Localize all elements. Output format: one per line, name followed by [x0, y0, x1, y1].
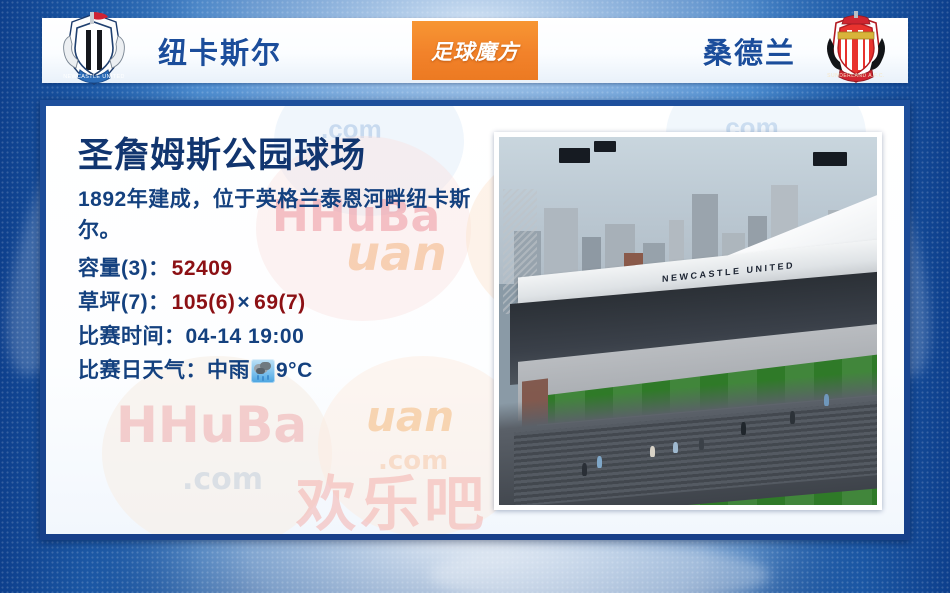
weather-label: 比赛日天气： [78, 354, 207, 388]
pitch-width-value: 69(7) [254, 286, 306, 320]
match-header-bar: NEWCASTLE UNITED 纽卡斯尔 足球魔方 桑德兰 [42, 18, 908, 83]
svg-text:SUNDERLAND A.F.C.: SUNDERLAND A.F.C. [827, 73, 885, 79]
newcastle-united-crest: NEWCASTLE UNITED [56, 10, 132, 88]
capacity-value: 52409 [172, 252, 233, 286]
watermark-brand: HHuBa [116, 396, 307, 454]
home-team-name: 纽卡斯尔 [158, 30, 282, 72]
watermark-pinyin: uan [366, 392, 454, 441]
watermark-domain: .com [182, 462, 263, 497]
capacity-label: 容量(3)： [78, 252, 170, 286]
pitch-length-value: 105(6) [172, 286, 236, 320]
content-panel: .com .com HHuBa uan HHuBa .com uan .com … [46, 106, 904, 534]
photo-spectator [741, 422, 746, 435]
svg-text:NEWCASTLE UNITED: NEWCASTLE UNITED [63, 74, 125, 80]
weather-value: 中雨 [207, 354, 250, 388]
stadium-photo-image: NEWCASTLE UNITED [499, 137, 877, 505]
pitch-dimension-separator: × [237, 286, 250, 320]
photo-spectator [582, 463, 587, 476]
pitch-row: 草坪(7)： 105(6) × 69(7) [78, 286, 478, 320]
photo-spectator [650, 446, 655, 457]
photo-screen [594, 141, 617, 152]
away-team-name: 桑德兰 [703, 30, 796, 72]
stadium-title: 圣詹姆斯公园球场 [78, 136, 478, 175]
content-panel-frame: .com .com HHuBa uan HHuBa .com uan .com … [40, 100, 910, 540]
st-james-park-stadium-photo: NEWCASTLE UNITED [494, 132, 882, 510]
match-time-value: 04-14 19:00 [186, 320, 305, 354]
pitch-label: 草坪(7)： [78, 286, 170, 320]
stadium-description: 1892年建成，位于英格兰泰恩河畔纽卡斯尔。 [78, 185, 478, 246]
stadium-info-card: NEWCASTLE UNITED 纽卡斯尔 足球魔方 桑德兰 [0, 0, 950, 593]
temperature-value: 9°C [276, 354, 313, 388]
photo-spectator [597, 456, 602, 468]
photo-spectator [699, 438, 704, 450]
match-time-label: 比赛时间： [78, 320, 186, 354]
stadium-info-block: 圣詹姆斯公园球场 1892年建成，位于英格兰泰恩河畔纽卡斯尔。 容量(3)： 5… [78, 136, 478, 388]
photo-spectator [790, 411, 795, 424]
photo-screen [559, 148, 589, 163]
watermark-cn-brand: 欢乐吧 [296, 456, 488, 534]
photo-screen [813, 152, 847, 167]
weather-row: 比赛日天气： 中雨 9°C [78, 354, 478, 388]
site-brand-label: 足球魔方 [431, 36, 519, 66]
moderate-rain-icon [251, 359, 275, 383]
sunderland-afc-crest: SUNDERLAND A.F.C. [818, 10, 894, 88]
match-time-row: 比赛时间： 04-14 19:00 [78, 320, 478, 354]
away-team-block[interactable]: 桑德兰 [534, 18, 908, 83]
photo-spectator [824, 394, 829, 406]
photo-spectator [673, 442, 678, 453]
site-brand-logo[interactable]: 足球魔方 [412, 21, 538, 80]
home-team-block[interactable]: NEWCASTLE UNITED 纽卡斯尔 [42, 18, 416, 83]
watermark-domain: .com [378, 446, 448, 476]
capacity-row: 容量(3)： 52409 [78, 252, 478, 286]
